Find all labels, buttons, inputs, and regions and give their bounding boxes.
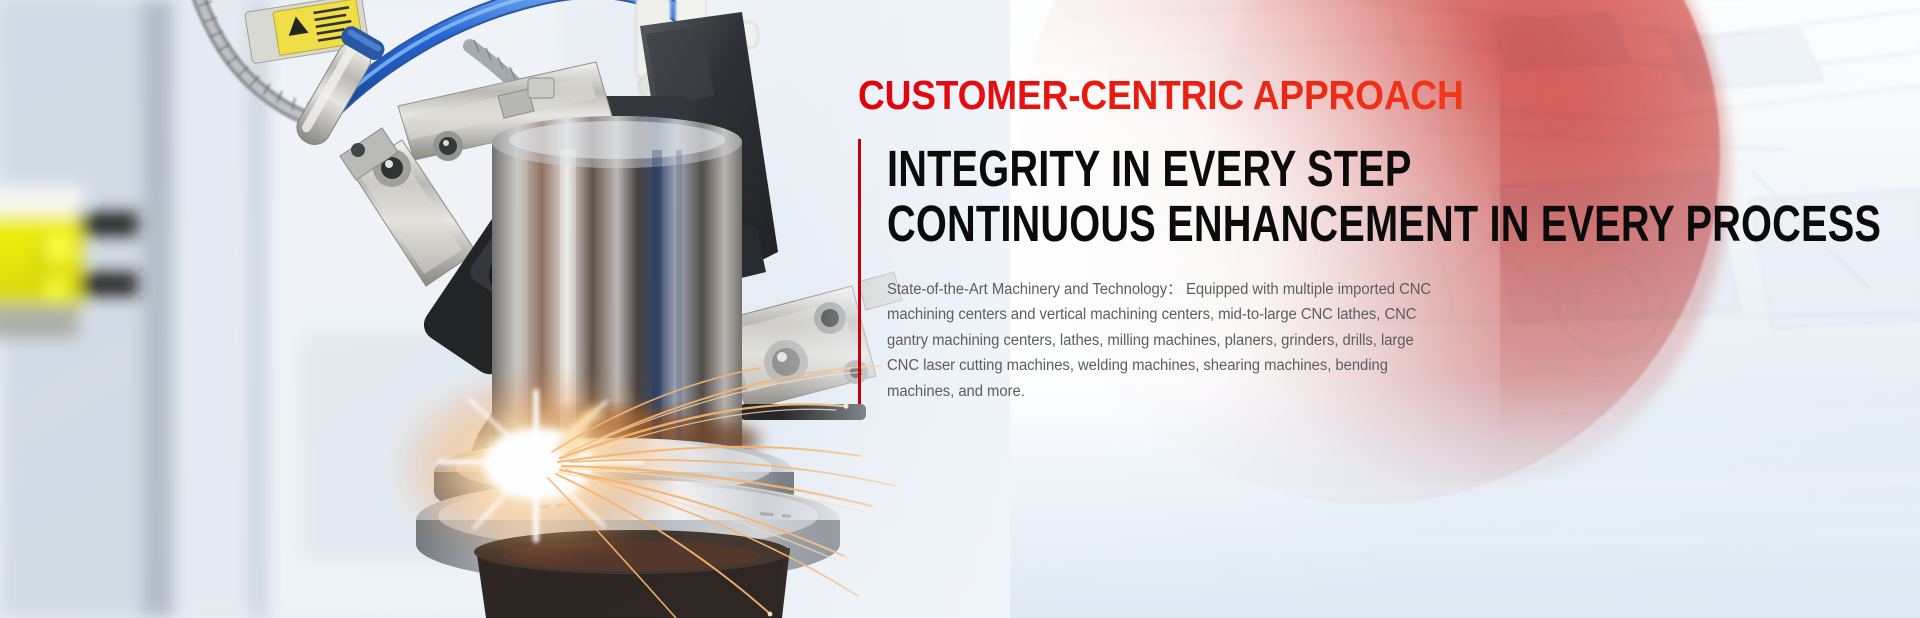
red-accent-rule (858, 139, 861, 405)
hero-banner: CUSTOMER-CENTRIC APPROACH INTEGRITY IN E… (0, 0, 1920, 618)
body-paragraph: State-of-the-Art Machinery and Technolog… (887, 277, 1450, 405)
headline-block: INTEGRITY IN EVERY STEP CONTINUOUS ENHAN… (858, 139, 1868, 405)
eyebrow-heading: CUSTOMER-CENTRIC APPROACH (858, 74, 1772, 117)
banner-content: CUSTOMER-CENTRIC APPROACH INTEGRITY IN E… (858, 74, 1868, 404)
headline-line-1: INTEGRITY IN EVERY STEP (887, 141, 1881, 196)
headline-column: INTEGRITY IN EVERY STEP CONTINUOUS ENHAN… (887, 139, 1920, 405)
page-title: INTEGRITY IN EVERY STEP CONTINUOUS ENHAN… (887, 141, 1881, 251)
headline-line-2: CONTINUOUS ENHANCEMENT IN EVERY PROCESS (887, 196, 1881, 251)
